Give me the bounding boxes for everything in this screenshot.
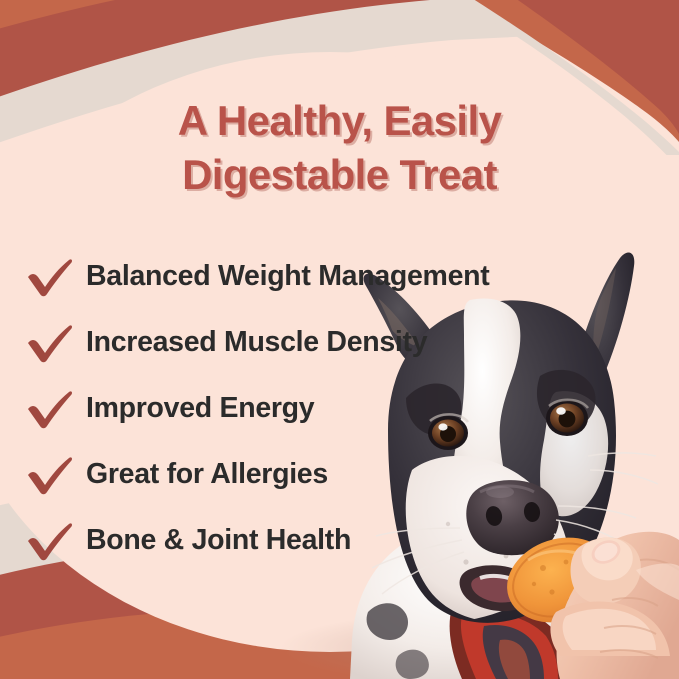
benefit-item-1: Balanced Weight Management — [0, 243, 679, 309]
checkmark-icon — [22, 318, 78, 366]
benefit-label: Bone & Joint Health — [86, 525, 351, 555]
benefit-label: Balanced Weight Management — [86, 261, 489, 291]
checkmark-icon — [22, 252, 78, 300]
checkmark-icon — [22, 450, 78, 498]
benefit-label: Increased Muscle Density — [86, 327, 427, 357]
checkmark-icon — [22, 384, 78, 432]
checkmark-icon — [22, 516, 78, 564]
benefit-label: Improved Energy — [86, 393, 314, 423]
benefits-list: Balanced Weight Management Increased Mus… — [0, 243, 679, 573]
benefit-item-3: Improved Energy — [0, 375, 679, 441]
benefit-label: Great for Allergies — [86, 459, 328, 489]
benefit-item-2: Increased Muscle Density — [0, 309, 679, 375]
promo-poster: A Healthy, Easily Digestable Treat Balan… — [0, 0, 679, 679]
benefit-item-5: Bone & Joint Health — [0, 507, 679, 573]
benefit-item-4: Great for Allergies — [0, 441, 679, 507]
